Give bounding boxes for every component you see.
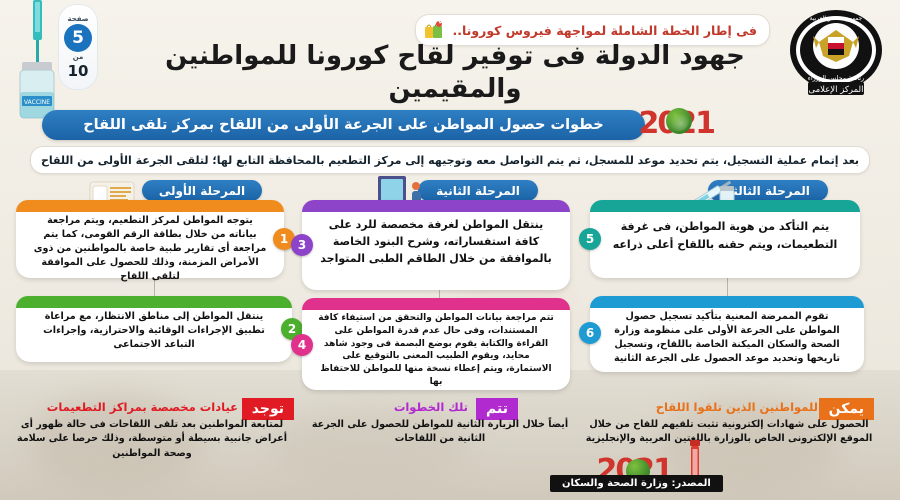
virus-icon [666,108,692,134]
step-card-2: ينتقل المواطن إلى مناطق الانتظار، مع مرا… [16,296,292,362]
bottom-headline-completed: تلك الخطوات [394,400,468,414]
step-card-3: ينتقل المواطن لغرفة مخصصة للرد على كافة … [302,200,570,290]
header-tagline-text: فى إطار الخطة الشاملة لمواجهة فيروس كورو… [452,23,757,38]
bottom-section-exists: توجد عيادات مخصصة بمراكز التطعيمات لمتاب… [10,396,294,486]
bottom-section-completed: تتم تلك الخطوات أيضاً خلال الزيارة الثان… [302,396,578,486]
step-badge-6: 6 [579,322,601,344]
stage-header-1: المرحلة الأولى [142,180,262,201]
bottom-tag-exists: توجد [242,398,294,420]
stage-header-2-label: المرحلة الثانية [436,184,520,198]
intro-note-text: بعد إتمام عملية التسجيل، يتم تحديد موعد … [41,154,859,167]
step-card-1-text: يتوجه المواطن لمركز التطعيم، ويتم مراجعة… [32,210,268,284]
svg-text:جمهورية مصر العربية: جمهورية مصر العربية [810,15,863,22]
page-total: 10 [68,62,89,80]
step-card-4: تتم مراجعة بيانات المواطن والتحقق من است… [302,298,570,390]
shopping-bags-icon [424,20,446,40]
page-number: 5 [64,24,92,52]
bottom-tag-completed: تتم [476,398,518,420]
step-card-4-text: تتم مراجعة بيانات المواطن والتحقق من است… [318,308,554,389]
svg-text:VACCINE: VACCINE [24,99,50,106]
step-card-2-text: ينتقل المواطن إلى مناطق الانتظار، مع مرا… [32,306,276,352]
infographic-page: المركز الإعلامى رئاسة مجلس الوزراء جمهور… [0,0,900,500]
step-card-3-text: ينتقل المواطن لغرفة مخصصة للرد على كافة … [318,210,554,267]
source-label: المصدر: وزارة الصحة والسكان [550,475,723,492]
bottom-tag-possible: يمكن [819,398,874,420]
government-logo: المركز الإعلامى رئاسة مجلس الوزراء جمهور… [784,6,888,98]
svg-text:المركز الإعلامى: المركز الإعلامى [809,85,864,95]
step-card-1: يتوجه المواطن لمركز التطعيم، ويتم مراجعة… [16,200,284,278]
page-label: صفحة [67,15,88,23]
vaccine-vial-syringe-icon: VACCINE [6,0,68,122]
step-badge-3: 3 [291,234,313,256]
bottom-body-possible: الحصول على شهادات إلكترونية تثبت تلقيهم … [584,418,874,447]
page-title: جهود الدولة فى توفير لقاح كورونا للمواطن… [130,40,780,105]
step-card-5-text: يتم التأكد من هوية المواطن، فى غرفة التط… [606,210,844,253]
connector-line [727,278,729,298]
step-card-5: يتم التأكد من هوية المواطن، فى غرفة التط… [590,200,860,278]
step-card-6-text: تقوم الممرضة المعنية بتأكيد تسجيل حصول ا… [606,306,848,366]
step-badge-4: 4 [291,334,313,356]
step-card-6: تقوم الممرضة المعنية بتأكيد تسجيل حصول ا… [590,296,864,372]
section-banner-row: خطوات حصول المواطن على الجرعة الأولى من … [0,110,900,144]
bottom-body-completed: أيضاً خلال الزيارة الثانية للمواطن للحصو… [302,418,578,447]
bottom-headline-possible: للمواطنين الذين تلقوا اللقاح [656,400,818,414]
svg-text:رئاسة مجلس الوزراء: رئاسة مجلس الوزراء [808,74,864,82]
intro-note: بعد إتمام عملية التسجيل، يتم تحديد موعد … [30,146,870,174]
page-of-label: من [73,53,84,61]
stage-header-2: المرحلة الثانية [418,180,538,201]
bottom-headline-exists: عيادات مخصصة بمراكز التطعيمات [47,400,238,414]
section-banner: خطوات حصول المواطن على الجرعة الأولى من … [42,110,645,140]
bottom-body-exists: لمتابعة المواطنين بعد تلقى اللقاحات فى ح… [10,418,294,461]
step-badge-5: 5 [579,228,601,250]
stage-header-1-label: المرحلة الأولى [159,184,245,198]
section-banner-text: خطوات حصول المواطن على الجرعة الأولى من … [83,117,604,133]
